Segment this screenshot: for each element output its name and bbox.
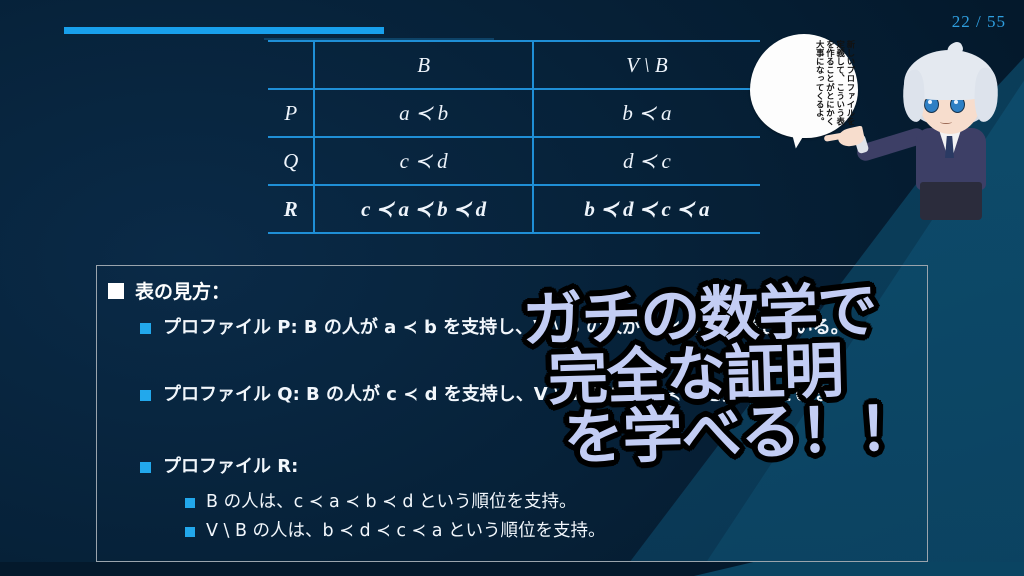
content-heading-label: 表の見方： [135, 277, 230, 304]
content-heading: 表の見方： [108, 277, 230, 304]
cell-r-b: c ≺ a ≺ b ≺ d [314, 185, 532, 233]
square-bullet-icon [185, 498, 195, 508]
page-indicator: 22 / 55 [952, 12, 1006, 32]
character-mouth [940, 120, 952, 124]
cell-p-vb: b ≺ a [533, 89, 760, 137]
cell-p-b: a ≺ b [314, 89, 532, 137]
table-header-b: B [314, 41, 532, 89]
subbullet-text-vb: V \ B の人は、b ≺ d ≺ c ≺ a という順位を支持。 [206, 521, 606, 543]
bullet-text-profile-r: プロファイル R: [163, 455, 298, 479]
row-label-r: R [268, 185, 314, 233]
content-box [96, 265, 928, 562]
table-header-vb: V \ B [533, 41, 760, 89]
square-bullet-icon [140, 462, 151, 473]
subbullet-text-b: B の人は、c ≺ a ≺ b ≺ d という順位を支持。 [206, 492, 577, 514]
profile-table-wrapper: B V \ B P a ≺ b b ≺ a Q c ≺ d d ≺ c R c … [268, 40, 760, 234]
list-item: V \ B の人は、b ≺ d ≺ c ≺ a という順位を支持。 [185, 521, 606, 543]
character-skirt [920, 182, 982, 220]
cell-q-b: c ≺ d [314, 137, 532, 185]
slide-root: 22 / 55 B V \ B P a ≺ b b ≺ a Q c ≺ d d … [0, 0, 1024, 576]
table-header-row: B V \ B [268, 41, 760, 89]
bullet-text-profile-q: プロファイル Q: B の人が c ≺ d を支持し、V \ B の人が d ≺… [163, 383, 848, 407]
square-bullet-icon [140, 390, 151, 401]
list-item: プロファイル P: B の人が a ≺ b を支持し、V \ B の人が b ≺… [140, 316, 849, 340]
table-corner-cell [268, 41, 314, 89]
speech-bubble-text: 新しいプロファイルを定義して、こういう表を作ることがとにかく大事になってくるよ。 [752, 40, 856, 134]
square-bullet-icon [140, 323, 151, 334]
table-row: P a ≺ b b ≺ a [268, 89, 760, 137]
cell-q-vb: d ≺ c [533, 137, 760, 185]
table-row: R c ≺ a ≺ b ≺ d b ≺ d ≺ c ≺ a [268, 185, 760, 233]
cell-r-vb: b ≺ d ≺ c ≺ a [533, 185, 760, 233]
list-item: B の人は、c ≺ a ≺ b ≺ d という順位を支持。 [185, 492, 577, 514]
table-row: Q c ≺ d d ≺ c [268, 137, 760, 185]
row-label-q: Q [268, 137, 314, 185]
profile-table: B V \ B P a ≺ b b ≺ a Q c ≺ d d ≺ c R c … [268, 40, 760, 234]
mascot-character [890, 40, 1010, 220]
square-bullet-icon [108, 283, 124, 299]
bullet-text-profile-p: プロファイル P: B の人が a ≺ b を支持し、V \ B の人が b ≺… [163, 316, 849, 340]
row-label-p: P [268, 89, 314, 137]
title-accent-bar [64, 27, 384, 34]
square-bullet-icon [185, 527, 195, 537]
list-item: プロファイル Q: B の人が c ≺ d を支持し、V \ B の人が d ≺… [140, 383, 848, 407]
list-item: プロファイル R: [140, 455, 298, 479]
